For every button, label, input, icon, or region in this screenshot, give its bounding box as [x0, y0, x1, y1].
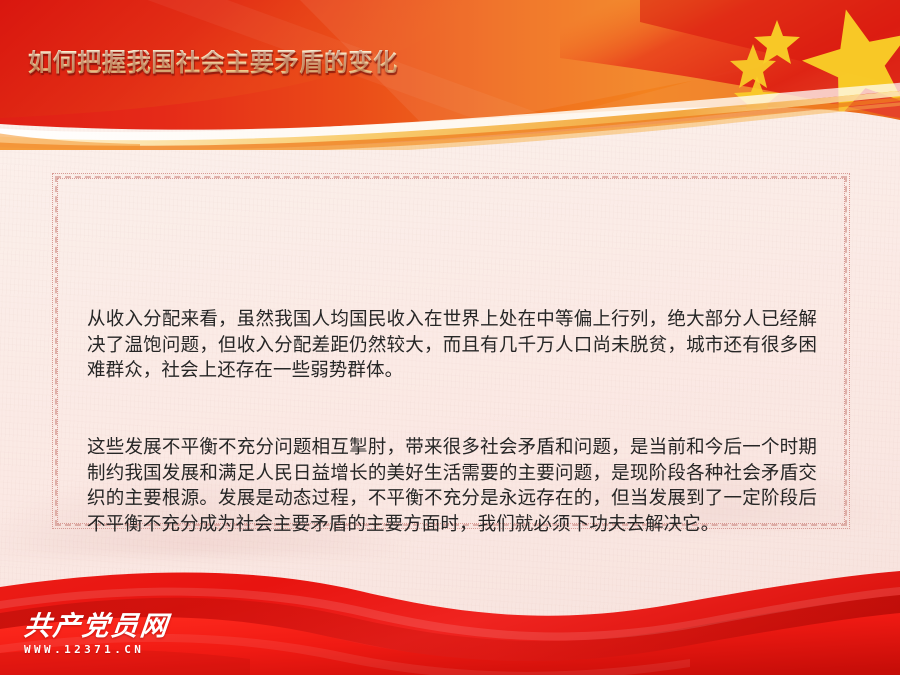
- site-logo-url: WWW.12371.CN: [24, 644, 169, 655]
- body-paragraph-1: 从收入分配来看，虽然我国人均国民收入在世界上处在中等偏上行列，绝大部分人已经解决…: [87, 307, 817, 384]
- site-logo-text: 共产党员网: [23, 613, 171, 640]
- poster-root: 如何把握我国社会主要矛盾的变化 如何把握我国社会主要矛盾的变化 从收入分配来看，…: [0, 0, 900, 675]
- site-logo[interactable]: 共产党员网 WWW.12371.CN: [24, 613, 169, 655]
- header-banner: 如何把握我国社会主要矛盾的变化 如何把握我国社会主要矛盾的变化: [0, 0, 900, 150]
- body-paragraph-2: 这些发展不平衡不充分问题相互掣肘，带来很多社会矛盾和问题，是当前和今后一个时期制…: [87, 435, 817, 537]
- banner-graphic: [0, 0, 900, 150]
